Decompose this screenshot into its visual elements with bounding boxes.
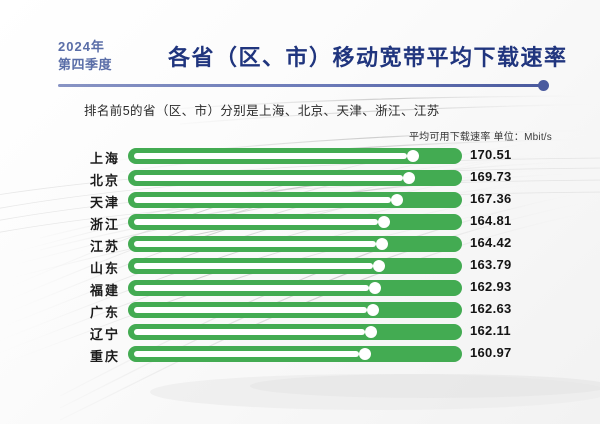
bar-value-marker	[369, 282, 381, 294]
chart-row: 浙江164.81	[0, 212, 600, 234]
bar-value-marker	[359, 348, 371, 360]
speed-bar	[128, 302, 462, 318]
speed-value: 163.79	[470, 257, 512, 272]
bar-value-marker	[407, 150, 419, 162]
speed-bar	[128, 346, 462, 362]
speed-value: 164.42	[470, 235, 512, 250]
speed-bar	[128, 192, 462, 208]
bar-inner-track	[134, 285, 369, 291]
province-label: 重庆	[58, 346, 120, 365]
speed-value: 160.97	[470, 345, 512, 360]
province-label: 天津	[58, 192, 120, 211]
bar-value-marker	[391, 194, 403, 206]
chart-row: 辽宁162.11	[0, 322, 600, 344]
header: 2024年 第四季度 各省（区、市）移动宽带平均下载速率	[0, 0, 600, 92]
chart-row: 北京169.73	[0, 168, 600, 190]
speed-value: 164.81	[470, 213, 512, 228]
bar-value-marker	[376, 238, 388, 250]
bar-value-marker	[403, 172, 415, 184]
bar-inner-track	[134, 219, 378, 225]
speed-value: 170.51	[470, 147, 512, 162]
province-label: 浙江	[58, 214, 120, 233]
speed-value: 169.73	[470, 169, 512, 184]
page-title: 各省（区、市）移动宽带平均下载速率	[168, 40, 568, 72]
axis-unit-label: 平均可用下载速率 单位：Mbit/s	[409, 128, 552, 143]
download-speed-bar-chart: 上海170.51北京169.73天津167.36浙江164.81江苏164.42…	[0, 146, 600, 376]
province-label: 辽宁	[58, 324, 120, 343]
speed-bar	[128, 236, 462, 252]
bar-value-marker	[373, 260, 385, 272]
bar-inner-track	[134, 263, 373, 269]
province-label: 江苏	[58, 236, 120, 255]
province-label: 北京	[58, 170, 120, 189]
bar-value-marker	[367, 304, 379, 316]
chart-row: 福建162.93	[0, 278, 600, 300]
speed-value: 162.63	[470, 301, 512, 316]
chart-row: 江苏164.42	[0, 234, 600, 256]
report-period: 2024年 第四季度	[58, 38, 112, 73]
chart-row: 广东162.63	[0, 300, 600, 322]
speed-value: 162.93	[470, 279, 512, 294]
chart-row: 上海170.51	[0, 146, 600, 168]
speed-bar	[128, 258, 462, 274]
speed-bar	[128, 324, 462, 340]
infographic-root: 2024年 第四季度 各省（区、市）移动宽带平均下载速率 排名前5的省（区、市）…	[0, 0, 600, 424]
speed-bar	[128, 214, 462, 230]
speed-bar	[128, 148, 462, 164]
province-label: 广东	[58, 302, 120, 321]
chart-row: 天津167.36	[0, 190, 600, 212]
bar-inner-track	[134, 307, 367, 313]
bar-value-marker	[365, 326, 377, 338]
bar-inner-track	[134, 153, 407, 159]
chart-row: 山东163.79	[0, 256, 600, 278]
bar-value-marker	[378, 216, 390, 228]
bar-inner-track	[134, 197, 391, 203]
bar-inner-track	[134, 351, 359, 357]
title-divider-end-dot	[538, 80, 549, 91]
subtitle-text: 排名前5的省（区、市）分别是上海、北京、天津、浙江、江苏	[84, 100, 440, 119]
chart-row: 重庆160.97	[0, 344, 600, 366]
title-divider	[58, 84, 542, 87]
bar-inner-track	[134, 241, 376, 247]
speed-value: 162.11	[470, 323, 511, 338]
province-label: 山东	[58, 258, 120, 277]
speed-value: 167.36	[470, 191, 512, 206]
province-label: 福建	[58, 280, 120, 299]
speed-bar	[128, 280, 462, 296]
bar-inner-track	[134, 175, 403, 181]
speed-bar	[128, 170, 462, 186]
province-label: 上海	[58, 148, 120, 167]
report-period-year: 2024年	[58, 38, 112, 56]
bar-inner-track	[134, 329, 365, 335]
report-period-quarter: 第四季度	[58, 56, 112, 74]
